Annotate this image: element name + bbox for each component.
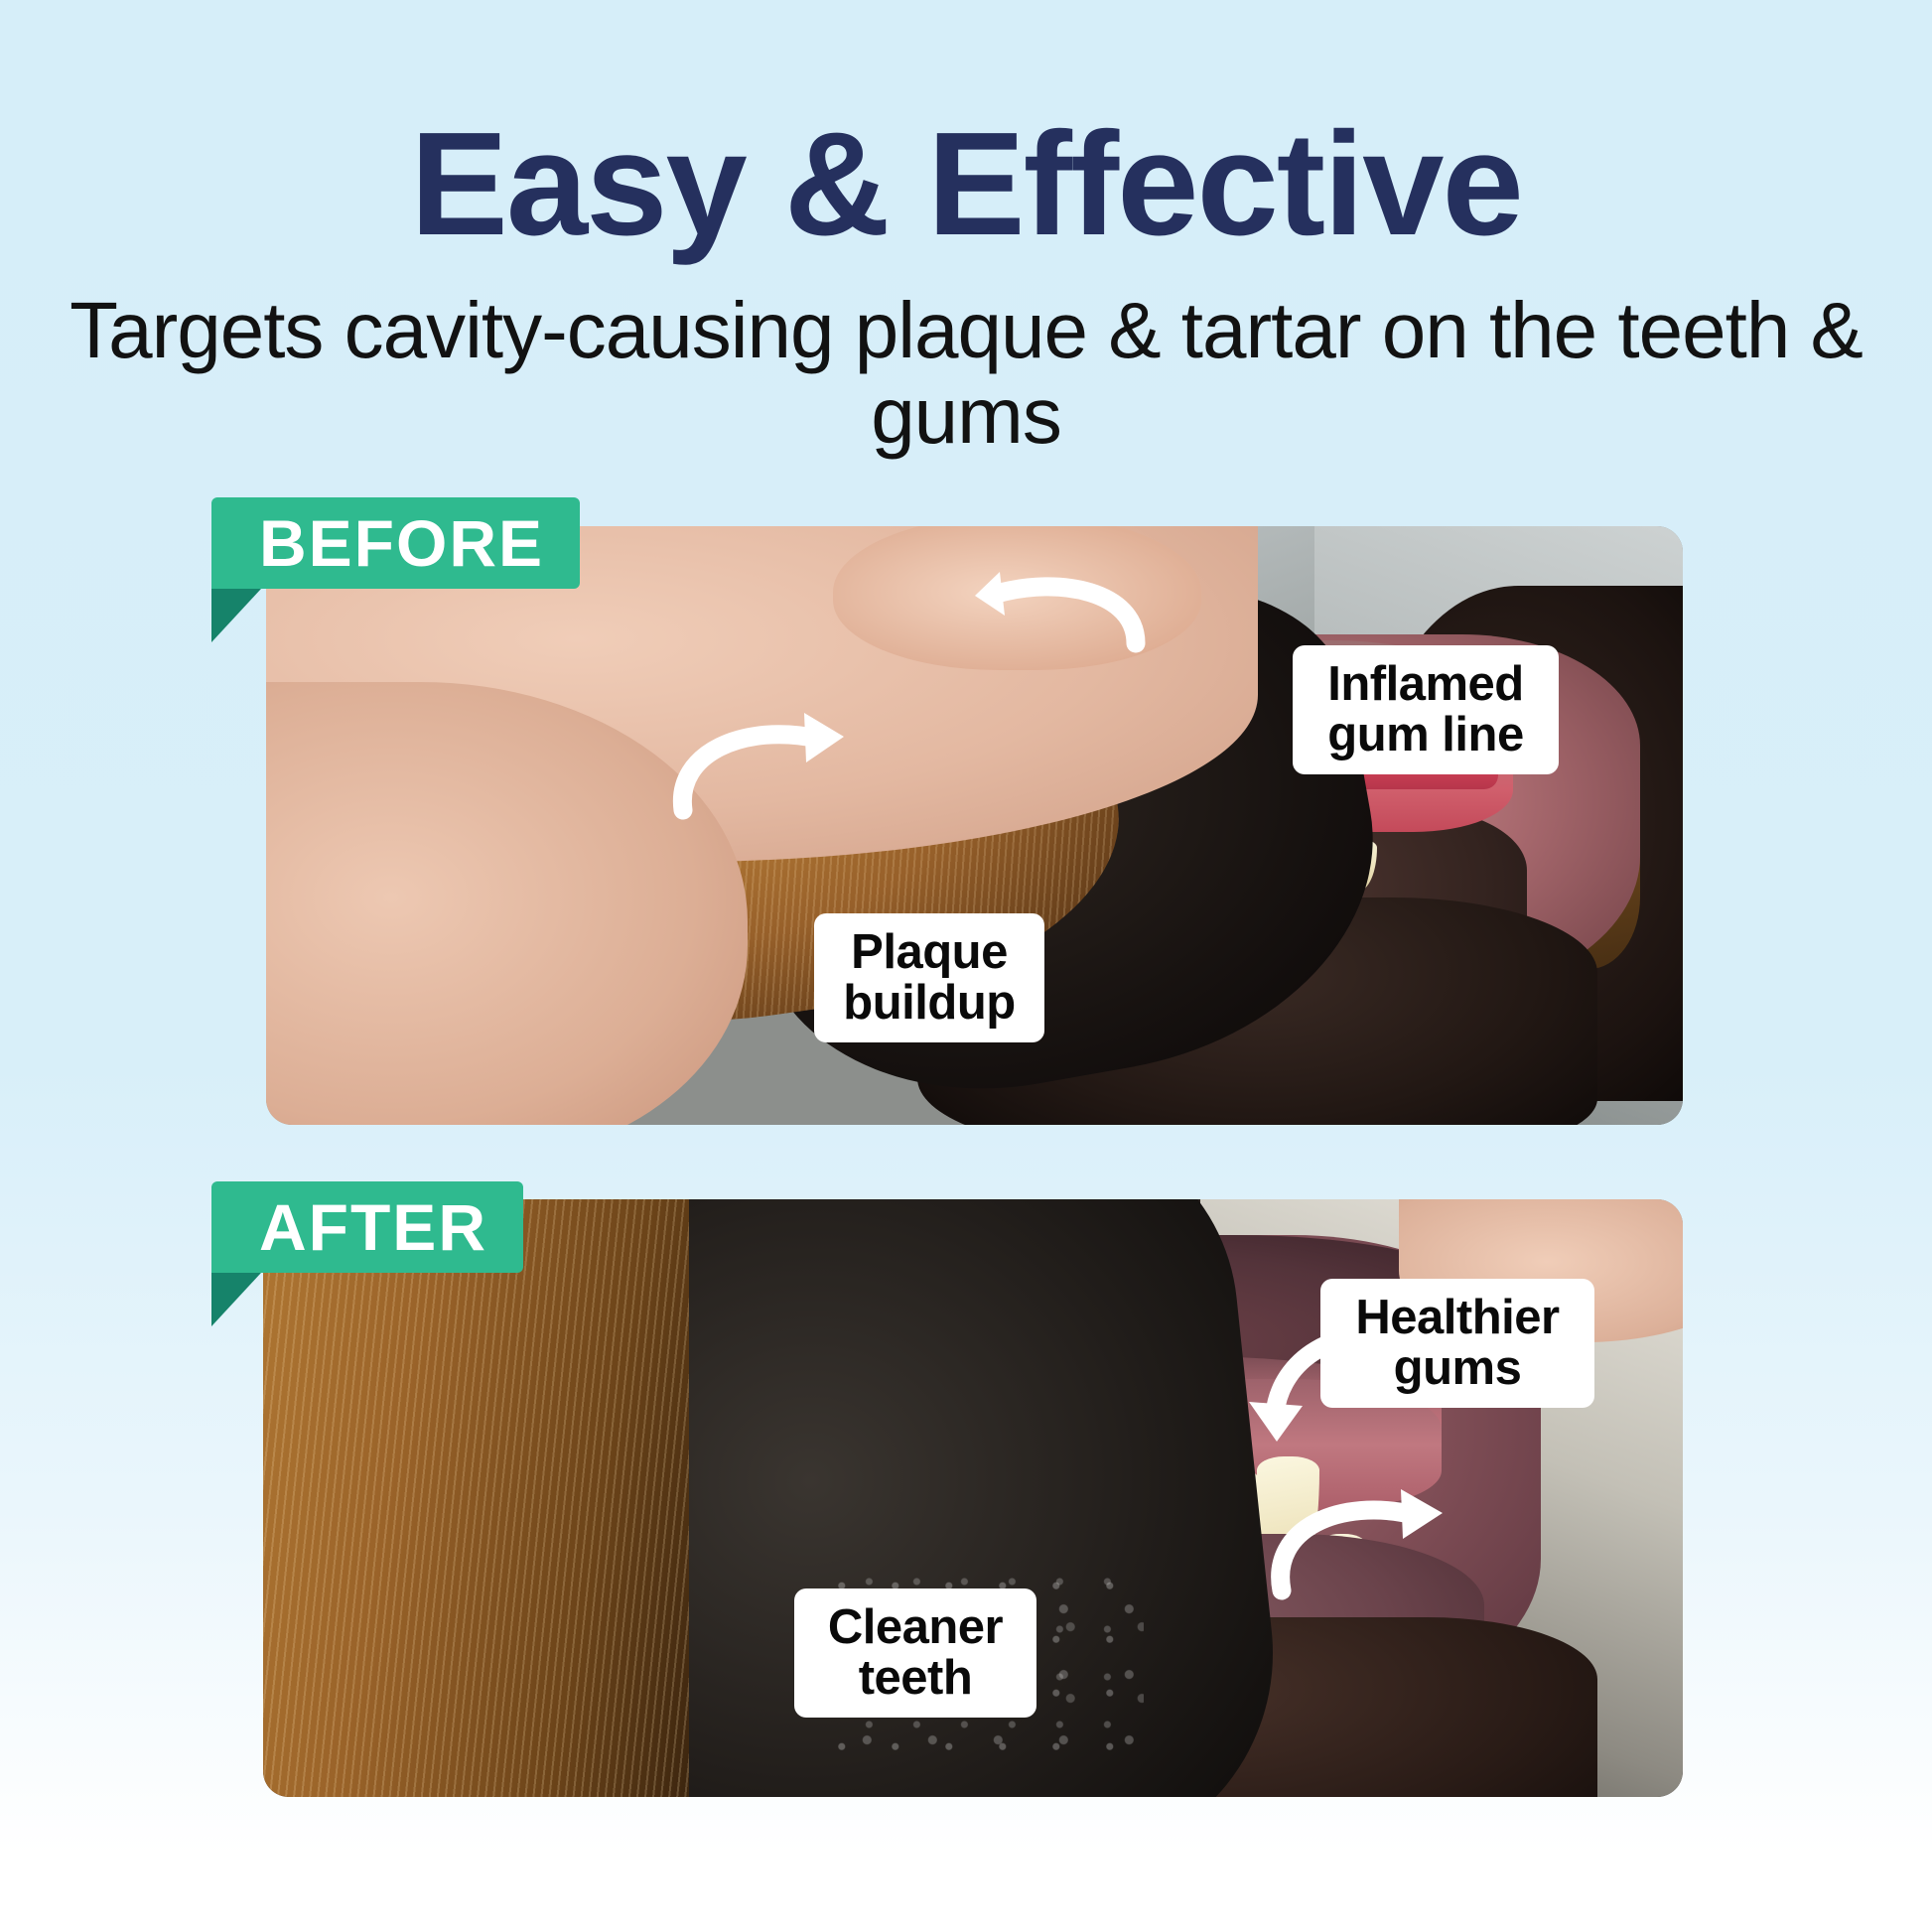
after-badge-flag: AFTER: [211, 1181, 523, 1273]
header: Easy & Effective Targets cavity-causing …: [0, 0, 1932, 460]
after-badge-label: AFTER: [259, 1194, 487, 1260]
before-badge-flag: BEFORE: [211, 497, 580, 589]
human-thumb: [833, 526, 1201, 670]
callout-cleaner-teeth: Cleaner teeth: [794, 1588, 1036, 1718]
dog-fur-texture-after: [263, 1199, 689, 1797]
callout-plaque-buildup: Plaque buildup: [814, 913, 1044, 1042]
after-badge-fold: [211, 1273, 261, 1326]
callout-healthier-gums: Healthier gums: [1320, 1279, 1594, 1408]
page-subtitle: Targets cavity-causing plaque & tartar o…: [0, 258, 1932, 460]
callout-inflamed-gum-line: Inflamed gum line: [1293, 645, 1559, 774]
after-badge: AFTER: [211, 1181, 523, 1273]
page-title: Easy & Effective: [0, 0, 1932, 258]
before-badge-fold: [211, 589, 261, 642]
infographic-page: Easy & Effective Targets cavity-causing …: [0, 0, 1932, 1932]
before-badge-label: BEFORE: [259, 510, 544, 576]
before-badge: BEFORE: [211, 497, 580, 589]
